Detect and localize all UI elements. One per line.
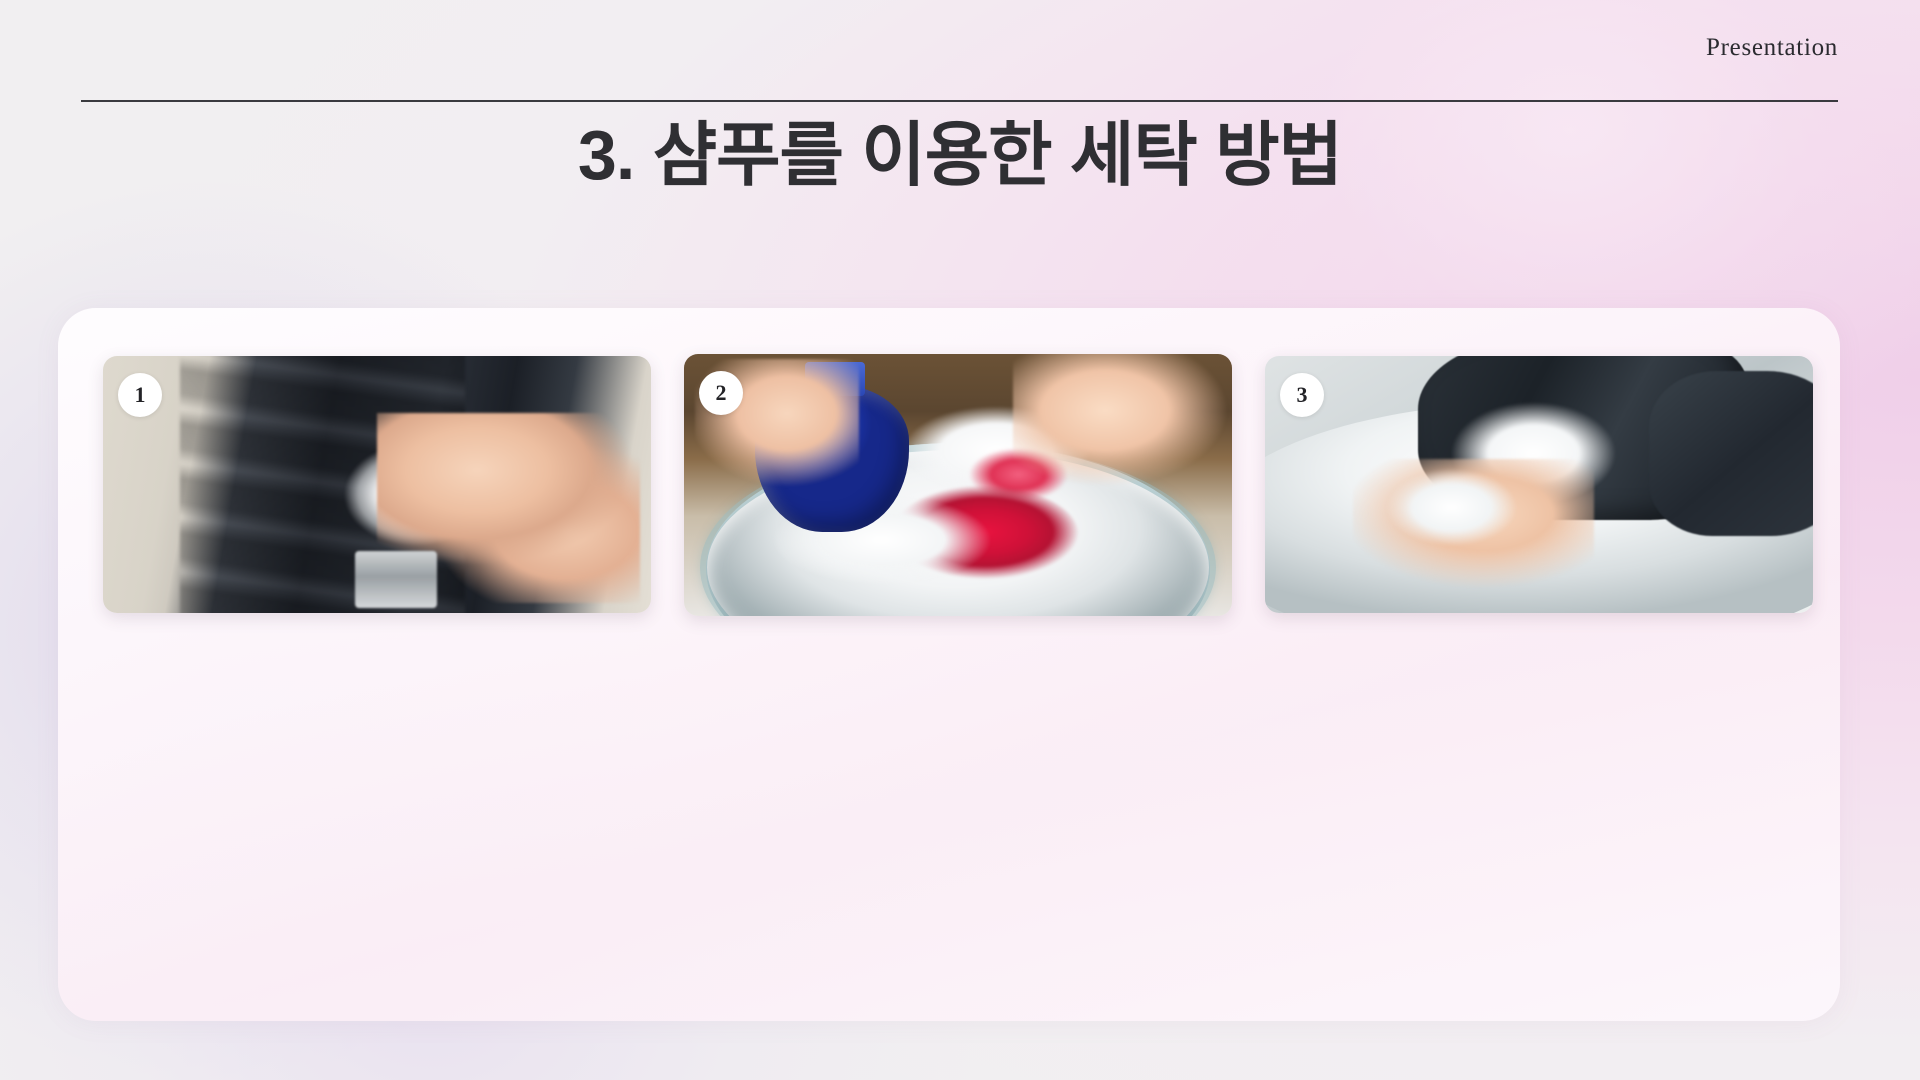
slide-title: 3. 샴푸를 이용한 세탁 방법 bbox=[0, 116, 1920, 194]
step-badge-1: 1 bbox=[118, 373, 162, 417]
hand-right bbox=[1013, 354, 1232, 495]
step-badge-3: 3 bbox=[1280, 373, 1324, 417]
image-panel-row bbox=[58, 308, 1840, 628]
bottle-shape bbox=[355, 551, 437, 608]
step-image-1 bbox=[103, 356, 651, 613]
slide-header: Presentation bbox=[81, 34, 1838, 62]
header-divider bbox=[81, 100, 1838, 102]
step-image-3 bbox=[1265, 356, 1813, 613]
header-label: Presentation bbox=[1706, 34, 1838, 61]
step-badge-2: 2 bbox=[699, 371, 743, 415]
photo-puffer-jacket-foam bbox=[103, 356, 651, 613]
slide-canvas: Presentation 3. 샴푸를 이용한 세탁 방법 bbox=[0, 0, 1920, 1080]
content-card: 샴푸 선택 팁 - 순한 성분의 샴푸 선택 - 향이 적은 제품 우선 - 실… bbox=[58, 308, 1840, 1021]
step-image-2 bbox=[684, 354, 1232, 616]
jacket-sleeve-end bbox=[1649, 371, 1813, 535]
photo-bowl-shampoo-foam bbox=[684, 354, 1232, 616]
photo-sink-rinsing-sleeve bbox=[1265, 356, 1813, 613]
